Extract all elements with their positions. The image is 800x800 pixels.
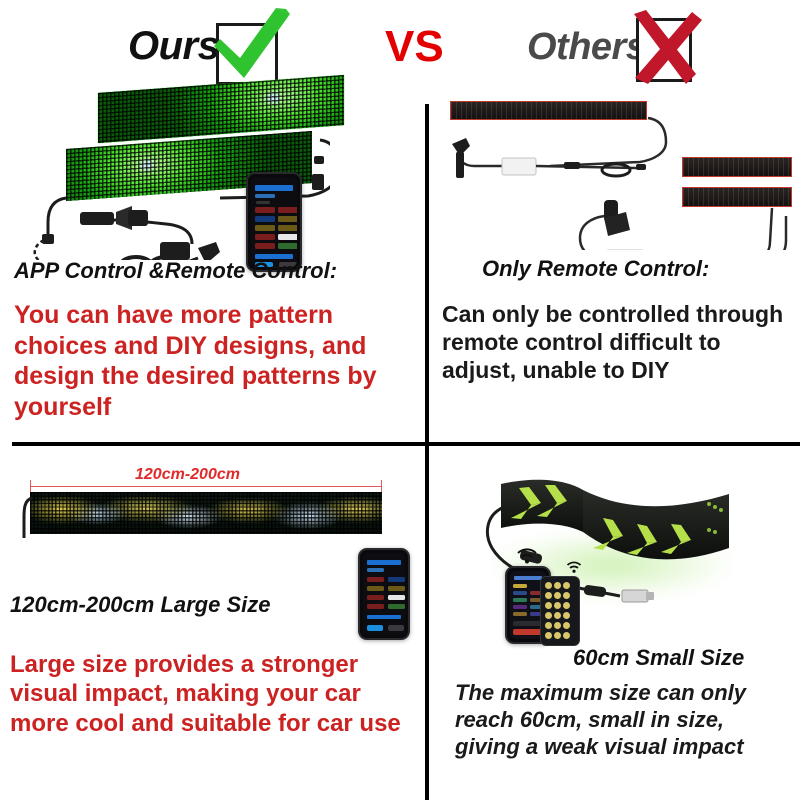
- header-row: Ours VS Others: [0, 0, 800, 104]
- bl-panel-cable: [18, 492, 48, 552]
- wifi-icon-remote: [566, 560, 582, 573]
- br-heading: 60cm Small Size: [573, 645, 744, 671]
- long-led-panel: [30, 492, 382, 534]
- br-body-text: The maximum size can only reach 60cm, sm…: [455, 680, 785, 760]
- comparison-infographic: Ours VS Others: [0, 0, 800, 800]
- vs-label: VS: [385, 22, 444, 72]
- red-cross-icon: [626, 8, 702, 88]
- tl-body-text: You can have more pattern choices and DI…: [14, 300, 404, 422]
- tl-heading: APP Control &Remote Control:: [14, 258, 337, 284]
- bl-body-text: Large size provides a stronger visual im…: [10, 650, 418, 738]
- tr-cable-harness: [440, 100, 800, 250]
- tr-heading: Only Remote Control:: [482, 256, 709, 282]
- horizontal-divider: [12, 442, 800, 446]
- bl-heading: 120cm-200cm Large Size: [10, 592, 271, 618]
- vertical-divider: [425, 104, 429, 800]
- ir-remote-control[interactable]: [540, 576, 580, 646]
- green-check-icon: [206, 6, 292, 84]
- wifi-icon: [516, 546, 538, 564]
- tr-body-text: Can only be controlled through remote co…: [442, 300, 790, 384]
- dimension-label: 120cm-200cm: [135, 466, 240, 484]
- dimension-line: [30, 486, 382, 487]
- phone-app-bottom-left[interactable]: [358, 548, 410, 640]
- phone-app-top-left[interactable]: [246, 172, 302, 272]
